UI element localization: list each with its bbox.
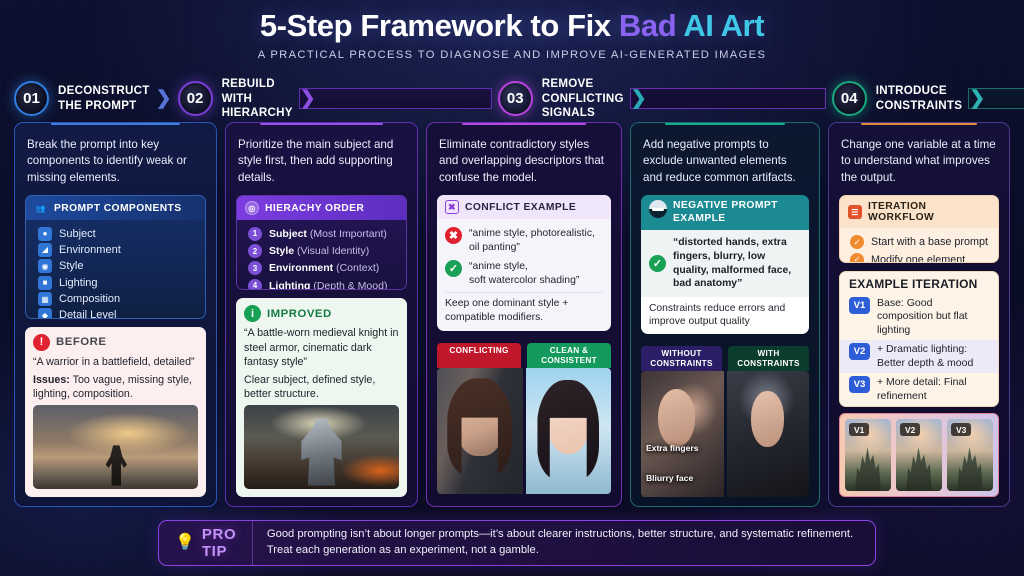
list-item: ✓ Modify one element bbox=[848, 251, 990, 263]
version-thumbnail-strip: V1 V2 V3 bbox=[839, 413, 999, 497]
column-rebuild: Prioritize the main subject and style fi… bbox=[225, 122, 418, 507]
hierarchy-name: Lighting bbox=[269, 280, 310, 291]
info-icon: i bbox=[244, 305, 261, 322]
column-3-lede: Eliminate contradictory styles and overl… bbox=[439, 137, 609, 186]
version-badge: V1 bbox=[849, 297, 870, 314]
iteration-workflow-header: ☰ ITERATION WORKFLOW bbox=[840, 196, 998, 228]
version-thumbnail-v2: V2 bbox=[896, 419, 942, 491]
step-badge-01: 01 bbox=[14, 81, 49, 116]
prompt-components-header: 👥 PROMPT COMPONENTS bbox=[26, 196, 205, 220]
rank-badge: 2 bbox=[248, 244, 262, 258]
tab-clean-consistent: CLEAN & CONSISTENT bbox=[527, 343, 611, 368]
list-item: ● Subject bbox=[34, 225, 197, 241]
image-clean-consistent bbox=[526, 368, 612, 494]
infographic-root: 5-Step Framework to Fix Bad AI Art A PRA… bbox=[0, 0, 1024, 576]
step-badge-02: 02 bbox=[178, 81, 213, 116]
step-label-02: REBUILD WITH HIERARCHY bbox=[222, 77, 293, 120]
version-description: + Dramatic lighting: Better depth & mood bbox=[877, 343, 989, 370]
list-item: ◉ Style bbox=[34, 258, 197, 274]
list-item: ✓ Start with a base prompt bbox=[848, 233, 990, 251]
lightbulb-icon: 💡 bbox=[175, 535, 195, 551]
list-item: 1 Subject (Most Important) bbox=[245, 225, 398, 242]
conflict-comparison-tabs: CONFLICTING CLEAN & CONSISTENT bbox=[437, 343, 611, 368]
column-iterate: Change one variable at a time to underst… bbox=[828, 122, 1010, 507]
iteration-workflow-list: ✓ Start with a base prompt ✓ Modify one … bbox=[840, 228, 998, 263]
hierarchy-sub: (Most Important) bbox=[307, 228, 387, 240]
list-item: ◢ Environment bbox=[34, 242, 197, 258]
component-label: Detail Level bbox=[59, 309, 116, 318]
pro-tip-banner: 💡 PRO TIP Good prompting isn’t about lon… bbox=[158, 520, 876, 566]
negative-prompt-footer: Constraints reduce errors and improve ou… bbox=[641, 297, 809, 334]
page-title: 5-Step Framework to Fix Bad AI Art bbox=[0, 8, 1024, 45]
improved-card: i IMPROVED “A battle-worn medieval knigh… bbox=[236, 298, 407, 497]
workflow-icon: ☰ bbox=[848, 205, 862, 219]
conflict-bad-text: “anime style, photorealistic, oil pantin… bbox=[469, 227, 603, 254]
conflict-example-title: CONFLICT EXAMPLE bbox=[465, 202, 576, 213]
step-03[interactable]: 03 REMOVE CONFLICTING SIGNALS bbox=[498, 77, 624, 120]
hierarchy-order-header: ◎ HIERACHY ORDER bbox=[237, 196, 406, 220]
conflict-example-header: ✖ CONFLICT EXAMPLE bbox=[437, 195, 611, 219]
hierarchy-sub: (Visual Identity) bbox=[294, 245, 369, 257]
rank-badge: 1 bbox=[248, 227, 262, 241]
column-1-lede: Break the prompt into key components to … bbox=[27, 137, 204, 186]
palette-icon: ◉ bbox=[38, 259, 52, 273]
rank-badge: 3 bbox=[248, 261, 262, 275]
page-subtitle: A PRACTICAL PROCESS TO DIAGNOSE AND IMPR… bbox=[0, 49, 1024, 61]
target-icon: ◎ bbox=[245, 201, 259, 215]
table-row: V2 + Dramatic lighting: Better depth & m… bbox=[840, 340, 998, 373]
example-iteration-panel: EXAMPLE ITERATION V1 Base: Good composit… bbox=[839, 271, 999, 407]
list-item: ■ Lighting bbox=[34, 274, 197, 290]
constraints-comparison-tabs: WITHOUT CONSTRAINTS WITH CONSTRAINTS bbox=[641, 346, 809, 371]
hierarchy-name: Environment bbox=[269, 262, 333, 274]
improved-card-header: i IMPROVED bbox=[244, 305, 399, 322]
conflict-comparison: CONFLICTING CLEAN & CONSISTENT bbox=[437, 343, 611, 494]
conflict-icon: ✖ bbox=[445, 200, 459, 214]
column-4-lede: Add negative prompts to exclude unwanted… bbox=[643, 137, 807, 186]
workflow-step-label: Start with a base prompt bbox=[871, 236, 988, 248]
image-without-constraints: Extra fingers Bliurry face bbox=[641, 371, 724, 497]
column-introduce-constraints: Add negative prompts to exclude unwanted… bbox=[630, 122, 820, 507]
conflict-good-row: ✓ “anime style,soft watercolor shading” bbox=[445, 257, 603, 290]
before-card-title: BEFORE bbox=[56, 336, 106, 348]
step-label-03: REMOVE CONFLICTING SIGNALS bbox=[542, 77, 624, 120]
negative-prompt-header: NEGATIVE PROMPT EXAMPLE bbox=[641, 195, 809, 230]
warning-icon: ! bbox=[33, 334, 50, 351]
chevron-right-icon-1: ❯ bbox=[156, 89, 172, 108]
component-label: Composition bbox=[59, 293, 120, 305]
check-icon: ✓ bbox=[850, 235, 864, 249]
tab-conflicting: CONFLICTING bbox=[437, 343, 521, 368]
step-label-01: DECONSTRUCT THE PROMPT bbox=[58, 84, 150, 113]
title-main: 5-Step Framework to Fix bbox=[260, 8, 619, 43]
before-issues: Issues: Too vague, missing style, lighti… bbox=[33, 373, 198, 401]
hierarchy-name: Style bbox=[269, 245, 294, 257]
step-badge-03: 03 bbox=[498, 81, 533, 116]
before-thumbnail bbox=[33, 405, 198, 489]
version-thumbnail-tag: V2 bbox=[900, 423, 920, 436]
check-icon: ✓ bbox=[850, 253, 864, 263]
image-conflicting bbox=[437, 368, 523, 494]
prompt-components-list: ● Subject ◢ Environment ◉ Style ■ Lighti… bbox=[26, 220, 205, 318]
table-row: V3 + More detail: Final refinement bbox=[840, 373, 998, 406]
step-01[interactable]: 01 DECONSTRUCT THE PROMPT bbox=[14, 81, 150, 116]
iteration-workflow-panel: ☰ ITERATION WORKFLOW ✓ Start with a base… bbox=[839, 195, 999, 263]
component-label: Subject bbox=[59, 228, 96, 240]
before-card: ! BEFORE “A warrior in a battlefield, de… bbox=[25, 327, 206, 497]
workflow-step-label: Modify one element bbox=[871, 254, 965, 263]
check-icon: ✓ bbox=[649, 255, 666, 272]
negative-prompt-text: “distorted hands, extra fingers, blurry,… bbox=[673, 236, 801, 291]
column-remove-conflicts: Eliminate contradictory styles and overl… bbox=[426, 122, 622, 507]
conflict-example-body: ✖ “anime style, photorealistic, oil pant… bbox=[437, 219, 611, 331]
list-item: 4 Lighting (Depth & Mood) bbox=[245, 277, 398, 290]
component-label: Style bbox=[59, 260, 83, 272]
list-item: 3 Environment (Context) bbox=[245, 260, 398, 277]
no-entry-icon bbox=[649, 200, 667, 218]
prompt-components-panel: 👥 PROMPT COMPONENTS ● Subject ◢ Environm… bbox=[25, 195, 206, 318]
negative-prompt-panel: NEGATIVE PROMPT EXAMPLE ✓ “distorted han… bbox=[641, 195, 809, 334]
step-04[interactable]: 04 INTRODUCE CONSTRAINTS bbox=[832, 81, 962, 116]
version-badge: V3 bbox=[849, 376, 870, 393]
step-badge-04: 04 bbox=[832, 81, 867, 116]
annotation-blurry-face: Bliurry face bbox=[646, 473, 693, 483]
hierarchy-sub: (Context) bbox=[333, 262, 379, 274]
gem-icon: ◆ bbox=[38, 308, 52, 318]
conflict-bad-row: ✖ “anime style, photorealistic, oil pant… bbox=[445, 224, 603, 257]
annotation-extra-fingers: Extra fingers bbox=[646, 443, 699, 453]
hierarchy-sub: (Depth & Mood) bbox=[310, 280, 387, 291]
check-icon: ✓ bbox=[445, 260, 462, 277]
chevron-right-icon-3: ❯ bbox=[630, 88, 826, 109]
list-item: ◆ Detail Level bbox=[34, 307, 197, 318]
pro-tip-text: Good prompting isn’t about longer prompt… bbox=[253, 527, 875, 559]
improved-card-title: IMPROVED bbox=[267, 308, 332, 320]
tab-with-constraints: WITH CONSTRAINTS bbox=[728, 346, 809, 371]
lamp-icon: ■ bbox=[38, 276, 52, 290]
negative-prompt-title: NEGATIVE PROMPT EXAMPLE bbox=[673, 200, 801, 225]
component-label: Lighting bbox=[59, 277, 98, 289]
hierarchy-order-list: 1 Subject (Most Important) 2 Style (Visu… bbox=[237, 220, 406, 290]
version-description: Base: Good composition but flat lighting bbox=[877, 297, 989, 337]
chevron-right-icon-2: ❯ bbox=[299, 88, 492, 109]
version-badge: V2 bbox=[849, 343, 870, 360]
step-label-04: INTRODUCE CONSTRAINTS bbox=[876, 84, 962, 113]
conflict-footer: Keep one dominant style + compatible mod… bbox=[445, 292, 603, 324]
header: 5-Step Framework to Fix Bad AI Art A PRA… bbox=[0, 8, 1024, 61]
table-row: V1 Base: Good composition but flat light… bbox=[840, 294, 998, 340]
version-thumbnail-v3: V3 bbox=[947, 419, 993, 491]
column-5-lede: Change one variable at a time to underst… bbox=[841, 137, 997, 186]
example-iteration-title: EXAMPLE ITERATION bbox=[840, 272, 998, 294]
before-card-header: ! BEFORE bbox=[33, 334, 198, 351]
conflict-good-line1: “anime style, bbox=[469, 261, 528, 272]
conflict-example-panel: ✖ CONFLICT EXAMPLE ✖ “anime style, photo… bbox=[437, 195, 611, 331]
iteration-workflow-title: ITERATION WORKFLOW bbox=[868, 201, 990, 223]
grid-icon: ▦ bbox=[38, 292, 52, 306]
improved-note: Clear subject, defined style, better str… bbox=[244, 373, 399, 401]
column-2-lede: Prioritize the main subject and style fi… bbox=[238, 137, 405, 186]
hierarchy-order-title: HIERACHY ORDER bbox=[265, 203, 364, 214]
hierarchy-order-panel: ◎ HIERACHY ORDER 1 Subject (Most Importa… bbox=[236, 195, 407, 290]
constraints-comparison-images: Extra fingers Bliurry face bbox=[641, 371, 809, 497]
before-quote: “A warrior in a battlefield, detailed” bbox=[33, 355, 198, 369]
improved-quote: “A battle-worn medieval knight in steel … bbox=[244, 326, 399, 368]
title-accent-aiart: AI Art bbox=[683, 8, 764, 43]
title-accent-bad: Bad bbox=[619, 8, 683, 43]
cross-icon: ✖ bbox=[445, 227, 462, 244]
step-02[interactable]: 02 REBUILD WITH HIERARCHY bbox=[178, 77, 293, 120]
version-thumbnail-tag: V3 bbox=[951, 423, 971, 436]
chevron-right-icon-4: ❯ bbox=[968, 88, 1024, 109]
version-thumbnail-tag: V1 bbox=[849, 423, 869, 436]
component-label: Environment bbox=[59, 244, 121, 256]
negative-prompt-body: ✓ “distorted hands, extra fingers, blurr… bbox=[641, 230, 809, 297]
column-deconstruct: Break the prompt into key components to … bbox=[14, 122, 217, 507]
landscape-icon: ◢ bbox=[38, 243, 52, 257]
version-thumbnail-v1: V1 bbox=[845, 419, 891, 491]
improved-thumbnail bbox=[244, 405, 399, 489]
conflict-good-line2: soft watercolor shading” bbox=[469, 275, 579, 286]
conflict-comparison-images bbox=[437, 368, 611, 494]
before-issues-label: Issues: bbox=[33, 374, 70, 386]
columns: Break the prompt into key components to … bbox=[14, 122, 1010, 507]
rank-badge: 4 bbox=[248, 279, 262, 291]
constraints-comparison: WITHOUT CONSTRAINTS WITH CONSTRAINTS Ext… bbox=[641, 346, 809, 497]
step-bar: 01 DECONSTRUCT THE PROMPT ❯ 02 REBUILD W… bbox=[14, 70, 1014, 128]
version-description: + More detail: Final refinement bbox=[877, 376, 989, 403]
prompt-components-title: PROMPT COMPONENTS bbox=[54, 203, 182, 214]
image-with-constraints bbox=[727, 371, 810, 497]
list-item: ▦ Composition bbox=[34, 291, 197, 307]
hierarchy-name: Subject bbox=[269, 228, 307, 240]
pro-tip-label: PRO TIP bbox=[202, 526, 238, 560]
pro-tip-label-group: 💡 PRO TIP bbox=[159, 521, 253, 565]
tab-without-constraints: WITHOUT CONSTRAINTS bbox=[641, 346, 722, 371]
list-item: 2 Style (Visual Identity) bbox=[245, 243, 398, 260]
person-icon: ● bbox=[38, 227, 52, 241]
people-icon: 👥 bbox=[34, 201, 48, 215]
